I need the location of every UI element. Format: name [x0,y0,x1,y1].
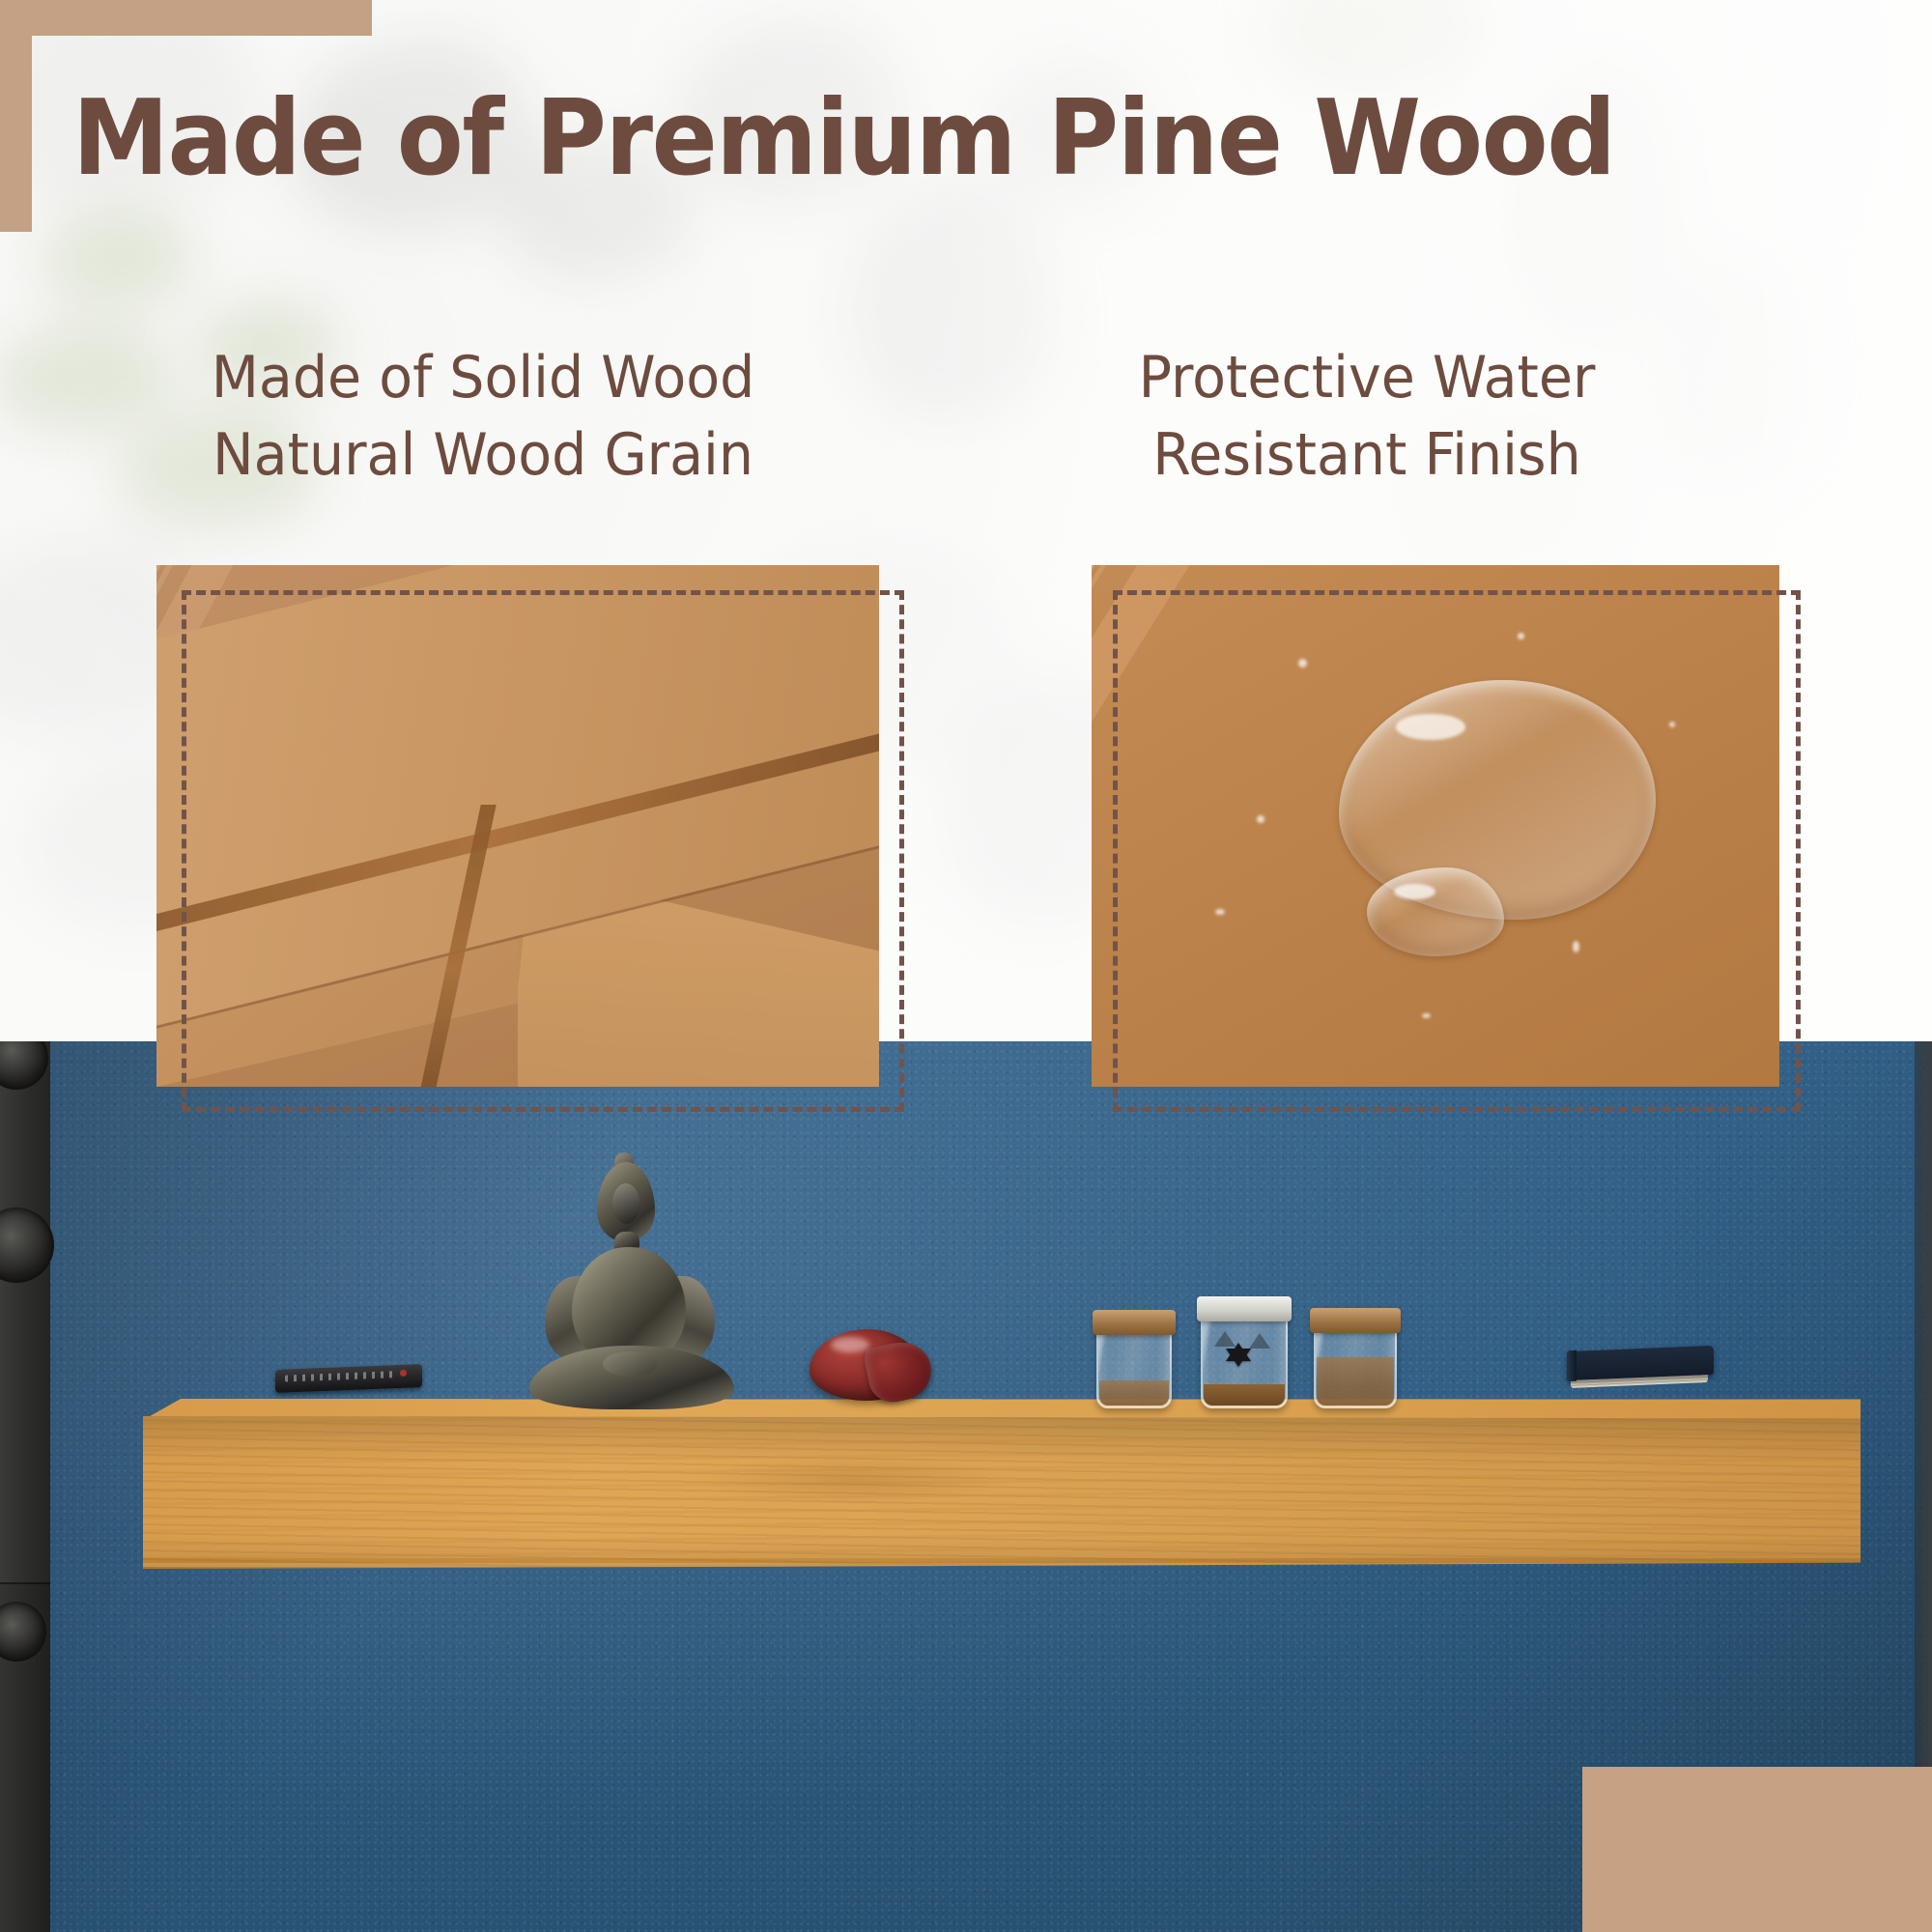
dashed-highlight-frame-left [182,590,904,1112]
jar-cork-lid [1093,1310,1176,1335]
frame-top-bar [0,0,372,36]
jar-contents [1099,1380,1169,1406]
statue-head [597,1162,655,1241]
shell-highlight [831,1337,869,1352]
frame-left-bar [0,0,32,232]
jar-contents [1317,1357,1394,1406]
floating-shelf [143,1399,1861,1569]
book [1567,1349,1714,1391]
jar-contents [1204,1384,1285,1406]
statue-hands [603,1351,657,1377]
star-decoration-icon [1249,1333,1270,1349]
speaker-driver-icon [0,1207,54,1283]
feature-caption-line-1: Made of Solid Wood [144,340,823,417]
speaker-driver-icon [0,1041,48,1090]
feature-caption-solid-wood: Made of Solid Wood Natural Wood Grain [144,340,823,495]
dashed-highlight-frame-right [1113,590,1801,1112]
book-cover [1567,1346,1714,1380]
remote-power-button-icon [400,1370,407,1377]
jar-cork-lid [1310,1308,1401,1333]
feature-caption-line-1: Protective Water [1028,340,1707,417]
glass-jar [1096,1323,1172,1408]
statue-face [612,1183,639,1224]
frame-bottom-right-block [1582,1767,1932,1932]
remote-buttons [285,1371,397,1381]
speaker-driver-icon [0,1602,46,1662]
book-spine [1567,1350,1577,1381]
star-decoration-icon [1214,1331,1236,1347]
jar-metal-lid [1197,1296,1292,1321]
feature-caption-line-2: Natural Wood Grain [144,417,823,495]
buddha-statue [522,1162,742,1408]
speaker-tower [0,1041,50,1582]
shelf-wood-knot [693,1455,1011,1505]
shelf-wood-grain [143,1416,1861,1569]
statue-torso [572,1247,686,1361]
speaker-tower-lower [0,1582,50,1932]
feature-caption-water-resistant: Protective Water Resistant Finish [1028,340,1707,495]
red-shell-ornament [810,1321,933,1403]
page-title: Made of Premium Pine Wood [72,83,1779,196]
star-jar [1201,1310,1288,1408]
feature-caption-line-2: Resistant Finish [1028,417,1707,495]
sand-jar [1314,1321,1397,1408]
